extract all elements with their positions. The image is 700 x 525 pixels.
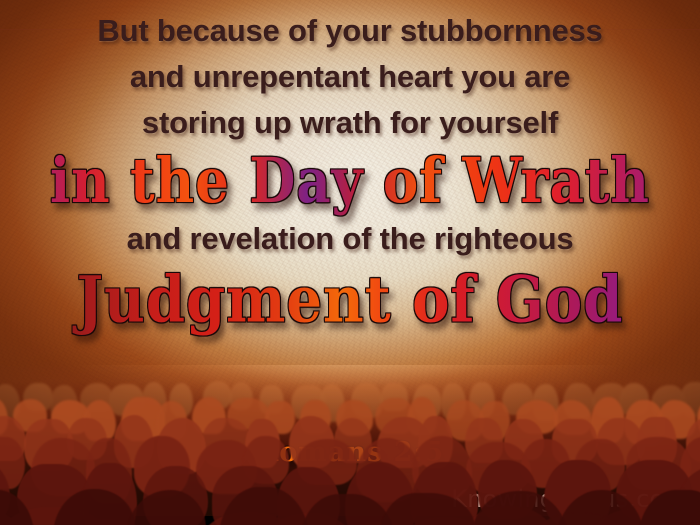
verse-line-2: and unrepentant heart you are [0, 54, 700, 100]
verse-emphasis-day-of-wrath: in the Day of Wrath [0, 140, 700, 221]
verse-line-3: storing up wrath for yourself [0, 100, 700, 146]
verse-line-1: But because of your stubbornness [0, 8, 700, 54]
crowd-silhouette [0, 365, 700, 525]
scripture-image: But because of your stubbornness and unr… [0, 0, 700, 525]
verse-text-block: But because of your stubbornness and unr… [0, 0, 700, 338]
verse-emphasis-judgment-of-god: Judgment of God [0, 257, 700, 344]
verse-line-4: and revelation of the righteous [0, 216, 700, 262]
